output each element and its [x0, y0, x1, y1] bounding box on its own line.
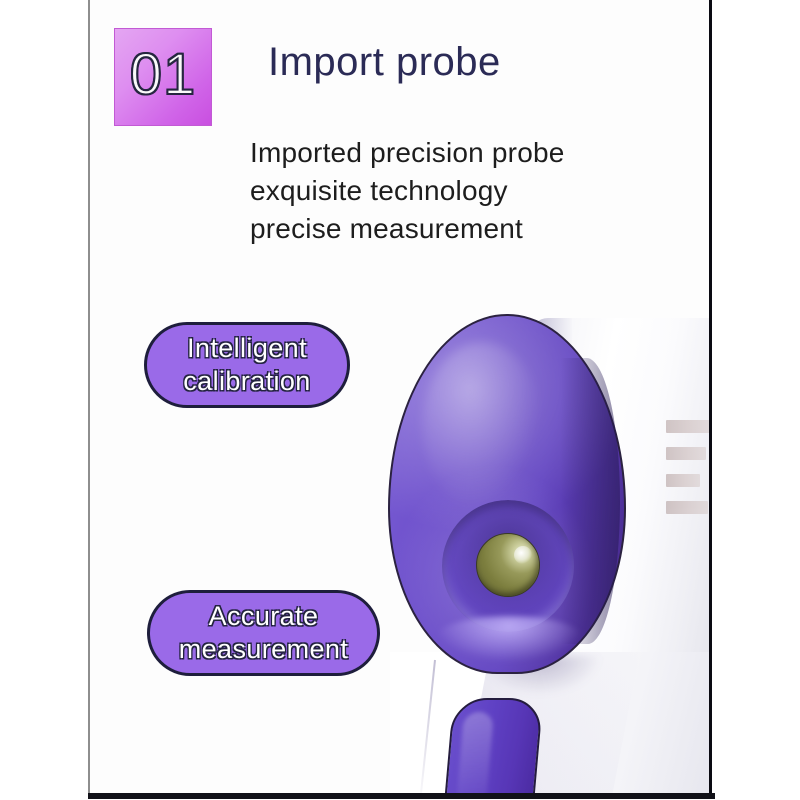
device-body-printed-markings	[666, 420, 712, 580]
sensor-lens-glint	[514, 546, 532, 564]
purple-grip-trigger	[443, 698, 543, 795]
infographic-canvas: 01 Import probe Imported precision probe…	[0, 0, 800, 800]
feature-pill-accurate-measurement: Accurate measurement	[147, 590, 380, 676]
feature-pill-line-1: Intelligent	[187, 332, 307, 365]
probe-head-under-highlight	[434, 616, 584, 662]
bottom-border-rule	[88, 793, 715, 799]
product-photo-thermometer	[370, 300, 712, 795]
feature-pill-line-2: measurement	[179, 633, 348, 666]
feature-pill-intelligent-calibration: Intelligent calibration	[144, 322, 350, 408]
description-line-3: precise measurement	[250, 210, 565, 248]
probe-head-highlight	[422, 342, 542, 510]
step-number-text: 01	[130, 46, 197, 108]
feature-pill-line-1: Accurate	[209, 600, 319, 633]
content-frame: 01 Import probe Imported precision probe…	[88, 0, 712, 795]
feature-pill-line-2: calibration	[183, 365, 310, 398]
description-line-2: exquisite technology	[250, 172, 565, 210]
description-block: Imported precision probe exquisite techn…	[250, 134, 565, 248]
infrared-sensor-lens	[476, 533, 540, 597]
probe-recessed-ring	[442, 500, 574, 632]
description-line-1: Imported precision probe	[250, 134, 565, 172]
section-title: Import probe	[268, 42, 501, 82]
step-number-badge: 01	[114, 28, 212, 126]
purple-probe-head	[388, 314, 626, 674]
grip-highlight	[456, 712, 494, 795]
